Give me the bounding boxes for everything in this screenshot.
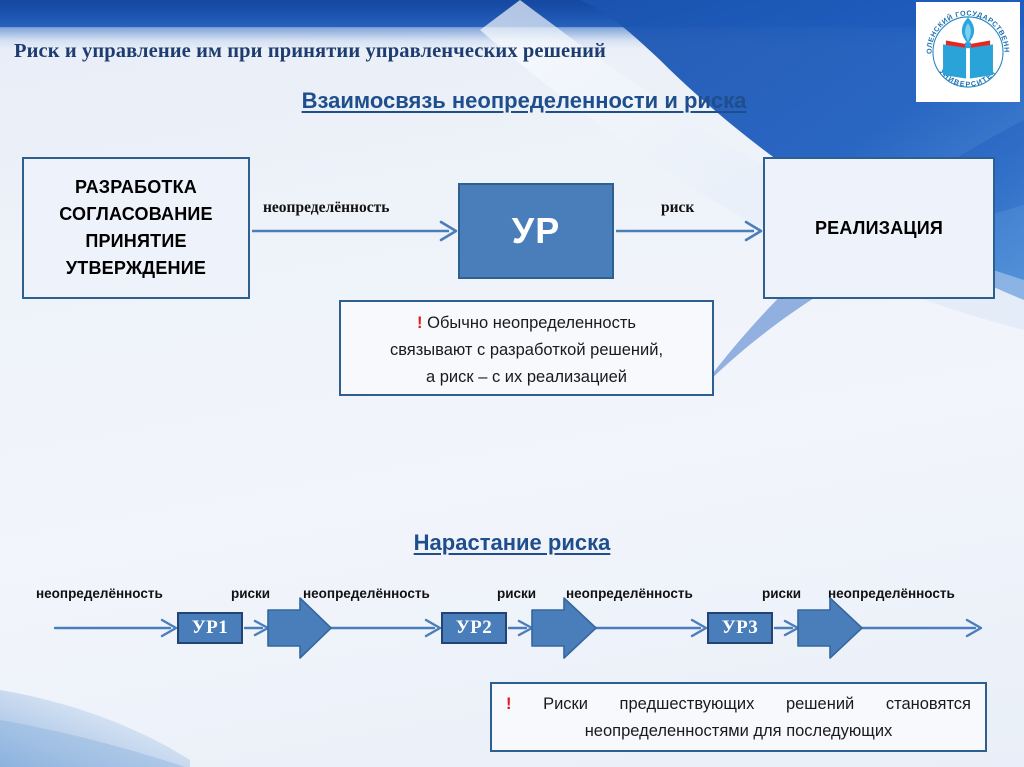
note-1-line-3: а риск – с их реализацией — [426, 368, 627, 386]
box-development-line-4: УТВЕРЖДЕНИЕ — [59, 255, 212, 282]
university-emblem-icon: СМОЛЕНСКИЙ ГОСУДАРСТВЕННЫЙ УНИВЕРСИТЕТ — [920, 4, 1016, 100]
section-heading-relationship: Взаимосвязь неопределенности и риска — [0, 88, 1024, 114]
risk-growth-chain-arrows — [0, 560, 1024, 670]
alert-icon: ! — [417, 314, 423, 332]
box-realization: РЕАЛИЗАЦИЯ — [763, 157, 995, 299]
section-heading-risk-growth: Нарастание риска — [0, 530, 1024, 556]
page-title: Риск и управление им при принятии управл… — [14, 40, 894, 63]
box-development-line-1: РАЗРАБОТКА — [59, 174, 212, 201]
university-logo: СМОЛЕНСКИЙ ГОСУДАРСТВЕННЫЙ УНИВЕРСИТЕТ — [916, 2, 1020, 102]
node-ur2: УР2 — [441, 612, 507, 644]
note-1-line-1: Обычно неопределенность — [427, 314, 636, 332]
note-2-line-1: Риски предшествующих решений становятся — [543, 695, 971, 713]
block-arrow-3 — [798, 598, 862, 658]
block-arrow-1 — [268, 598, 331, 658]
slide-canvas: СМОЛЕНСКИЙ ГОСУДАРСТВЕННЫЙ УНИВЕРСИТЕТ Р… — [0, 0, 1024, 767]
node-ur3: УР3 — [707, 612, 773, 644]
note-uncertainty-risk: ! Обычно неопределенность связывают с ра… — [339, 300, 714, 396]
box-development-line-2: СОГЛАСОВАНИЕ — [59, 201, 212, 228]
arrow-label-uncertainty: неопределённость — [263, 199, 389, 217]
arrow-label-risk: риск — [661, 199, 694, 217]
box-development-line-3: ПРИНЯТИЕ — [59, 228, 212, 255]
node-ur1: УР1 — [177, 612, 243, 644]
box-ur: УР — [458, 183, 614, 279]
note-2-line-2: неопределенностями для последующих — [585, 722, 893, 740]
note-1-line-2: связывают с разработкой решений, — [390, 341, 663, 359]
alert-icon-2: ! — [506, 695, 512, 713]
note-risk-becomes-uncertainty: ! Риски предшествующих решений становятс… — [490, 682, 987, 752]
box-development-stages: РАЗРАБОТКА СОГЛАСОВАНИЕ ПРИНЯТИЕ УТВЕРЖД… — [22, 157, 250, 299]
block-arrow-2 — [532, 598, 596, 658]
